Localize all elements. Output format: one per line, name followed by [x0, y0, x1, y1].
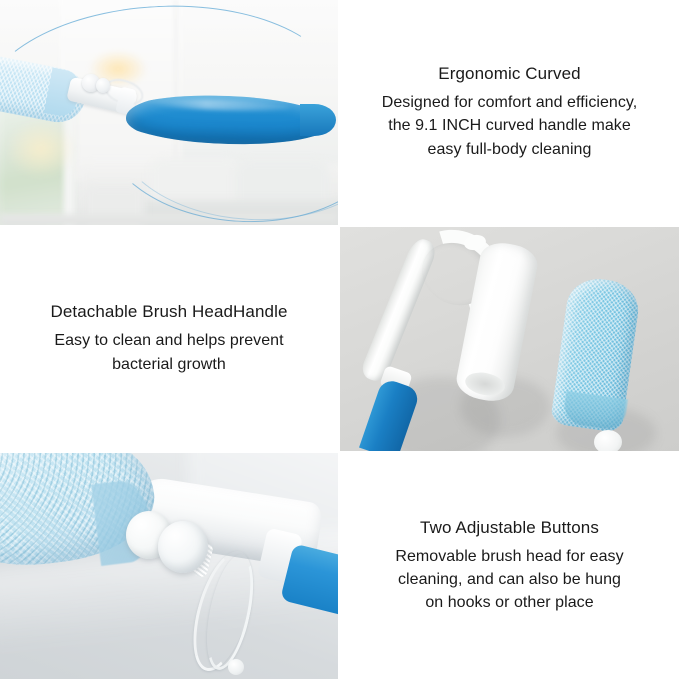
feature-text-detachable-brush-head: Detachable Brush HeadHandle Easy to clea…	[0, 227, 338, 451]
feature-description-line: Designed for comfort and efficiency,	[382, 91, 638, 114]
hanging-cord-knot	[228, 659, 244, 675]
feature-description-line: the 9.1 INCH curved handle make	[382, 114, 638, 137]
feature-description: Removable brush head for easy cleaning, …	[395, 545, 623, 615]
feature-description: Designed for comfort and efficiency, the…	[382, 91, 638, 161]
feature-text-two-adjustable-buttons: Two Adjustable Buttons Removable brush h…	[340, 453, 679, 679]
feature-description-line: bacterial growth	[54, 353, 283, 376]
feature-description-line: on hooks or other place	[395, 591, 623, 614]
living-room-background	[0, 0, 338, 225]
feature-title: Ergonomic Curved	[438, 64, 580, 84]
feature-description: Easy to clean and helps prevent bacteria…	[54, 329, 283, 375]
feature-title: Detachable Brush HeadHandle	[50, 302, 287, 322]
photo-buttons-closeup	[0, 453, 338, 679]
adjustable-button-two	[96, 78, 110, 93]
feature-description-line: Easy to clean and helps prevent	[54, 329, 283, 352]
feature-title: Two Adjustable Buttons	[420, 518, 599, 538]
closeup-background	[0, 453, 338, 679]
feature-description-line: cleaning, and can also be hung	[395, 568, 623, 591]
feature-description-line: Removable brush head for easy	[395, 545, 623, 568]
feature-description-line: easy full-body cleaning	[382, 138, 638, 161]
photo-curved-handle	[0, 0, 338, 225]
grey-surface-background	[340, 227, 679, 451]
mesh-cover-ball-tip	[594, 430, 622, 451]
adjustable-button-two	[158, 521, 208, 573]
photo-disassembled-parts	[340, 227, 679, 451]
feature-text-ergonomic-curved: Ergonomic Curved Designed for comfort an…	[340, 0, 679, 225]
product-feature-grid: Ergonomic Curved Designed for comfort an…	[0, 0, 679, 679]
